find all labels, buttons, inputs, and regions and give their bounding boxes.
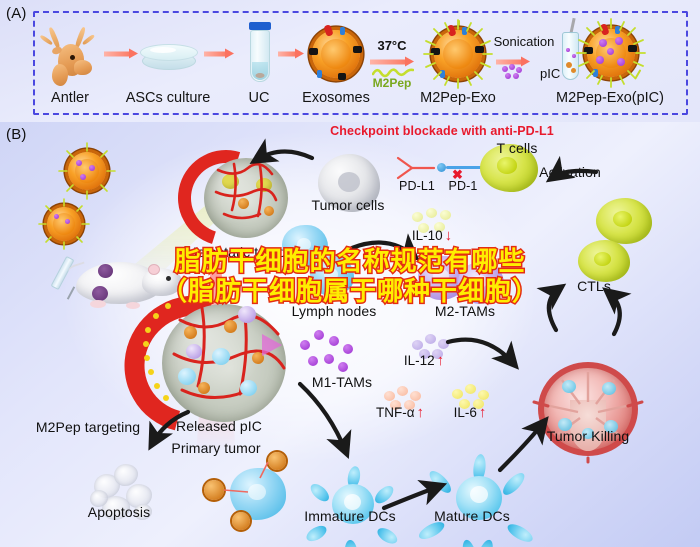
cytokine-il-12: IL-12↑ — [404, 352, 444, 369]
exosome-spikes-overlay — [0, 0, 700, 122]
il10-dot-icon — [440, 210, 451, 220]
checkpoint-line-1: Checkpoint blockade — [330, 124, 458, 138]
tumor-exosome-icon — [184, 326, 197, 339]
panel-b-label-lymph-nodes: Tumor Killing — [547, 428, 629, 444]
il12-dot-icon — [438, 339, 449, 349]
cytokine-il-12-label: IL-12 — [404, 353, 435, 368]
tumor-exosome-icon — [198, 382, 210, 394]
cytokine-il-10: IL-10↓ — [412, 227, 452, 244]
cytokine-il-6-label: IL-6 — [454, 405, 477, 420]
panel-b-label-pd-1: PD-1 — [449, 179, 478, 193]
il10-dot-icon — [412, 212, 423, 222]
tumor-infiltrating-macrophage-icon — [240, 380, 257, 396]
syringe-needle-icon — [67, 286, 75, 299]
ctl-cell-icon — [578, 240, 630, 282]
mouse-tumor-spot-icon — [92, 286, 108, 301]
il12-dot-icon — [425, 334, 436, 344]
panel-b-label-t-cells: T cells — [497, 140, 538, 156]
tumor-infiltrating-m1-icon — [186, 344, 202, 359]
lymph-node-septa-icon — [528, 358, 648, 464]
cytokine-tnf-alpha-label: TNF-α — [376, 405, 415, 420]
metastatic-tumor-illustration — [176, 144, 296, 254]
cytokine-il-10-arrow: ↓ — [443, 227, 453, 244]
cytokine-tnf-alpha: TNF-α↑ — [376, 404, 424, 421]
tumor-pink-arrow-icon — [262, 334, 282, 356]
cytokine-il-12-arrow: ↑ — [435, 352, 445, 369]
checkpoint-line-2: with anti-PD-L1 — [461, 124, 553, 138]
lymph-node-lymphocyte-icon — [562, 380, 576, 393]
panel-b-label-released-pic: M1-TAMs — [312, 374, 372, 390]
panel-b-label-tumor-killing: Apoptosis — [88, 504, 150, 520]
tumor-infiltrating-m1-icon — [238, 306, 256, 323]
panel-b: Metastatic tumor Tumor cells Checkpoint … — [0, 122, 700, 547]
ctl-nucleus-icon — [594, 252, 612, 266]
immature-dc-illustration — [316, 470, 388, 538]
tumor-infiltrating-macrophage-icon — [212, 348, 230, 365]
panel-b-label-immature-dcs: Immature DCs — [304, 508, 395, 524]
panel-b-label-mature-dcs: Mature DCs — [434, 508, 510, 524]
ctl-nucleus-icon — [613, 211, 632, 227]
released-pic-group — [300, 330, 356, 376]
mature-dc-illustration — [438, 462, 518, 538]
released-pic-dot-icon — [329, 336, 339, 346]
panel-b-label-activation: Activation — [539, 164, 601, 180]
released-pic-dot-icon — [308, 356, 318, 366]
panel-b-label-tumor-cells: Tumor cells — [312, 197, 385, 213]
released-pic-dot-icon — [300, 340, 310, 350]
ctl-cell-icon — [596, 198, 652, 244]
mouse-ear-icon — [148, 264, 160, 275]
cytokine-tnf-alpha-arrow: ↑ — [415, 404, 425, 421]
panel-b-label-primary-tumor: Released pIC — [176, 418, 262, 434]
watermark-line-2: （脂肪干细胞属于哪种干细胞） — [161, 277, 539, 307]
metastatic-vessel-branches-icon — [176, 144, 296, 254]
debris-fragment-icon — [114, 464, 138, 486]
il10-dot-icon — [426, 208, 437, 218]
cytokine-il-6: IL-6↑ — [454, 404, 487, 421]
panel-b-label-pd-l1: PD-L1 — [399, 179, 435, 193]
t-cell-nucleus-icon — [497, 157, 517, 173]
checkpoint-blockade-note: Checkpoint blockade with anti-PD-L1 — [330, 124, 554, 138]
tumor-infiltrating-macrophage-icon — [178, 368, 196, 385]
tumor-exosome-icon — [224, 320, 237, 333]
mature-dc-nucleus-icon — [470, 486, 488, 503]
il6-dot-icon — [465, 384, 476, 394]
panel-b-label-apoptosis: M2Pep targeting — [36, 419, 140, 435]
watermark-overlay: 脂肪干细胞的名称规范有哪些 （脂肪干细胞属于哪种干细胞） — [161, 247, 539, 307]
panel-a: (A) Antler ASCs culture — [0, 0, 700, 122]
mouse-foot-icon — [90, 300, 106, 308]
panel-b-letter: (B) — [6, 126, 27, 143]
released-pic-dot-icon — [314, 330, 324, 340]
m2pep-targeting-illustration — [196, 452, 306, 532]
pd1-receptor-ball-icon — [437, 163, 446, 172]
il6-dot-icon — [452, 389, 463, 399]
released-pic-dot-icon — [343, 344, 353, 354]
watermark-line-1: 脂肪干细胞的名称规范有哪些 — [161, 247, 539, 277]
lymph-node-lymphocyte-icon — [602, 382, 616, 395]
cytokine-il-10-label: IL-10 — [412, 228, 443, 243]
tnfa-dot-icon — [397, 386, 408, 396]
targeting-link-icon — [196, 452, 306, 532]
lymph-node-illustration — [528, 358, 648, 464]
released-pic-dot-icon — [338, 362, 348, 372]
cytokine-il-6-arrow: ↑ — [477, 404, 487, 421]
tumor-cell-nucleus-icon — [338, 172, 360, 192]
mouse-tumor-spot-icon — [98, 264, 113, 278]
figure-root: (A) Antler ASCs culture — [0, 0, 700, 547]
released-pic-dot-icon — [324, 354, 334, 364]
panel-b-label-ctls: CTLs — [577, 278, 611, 294]
